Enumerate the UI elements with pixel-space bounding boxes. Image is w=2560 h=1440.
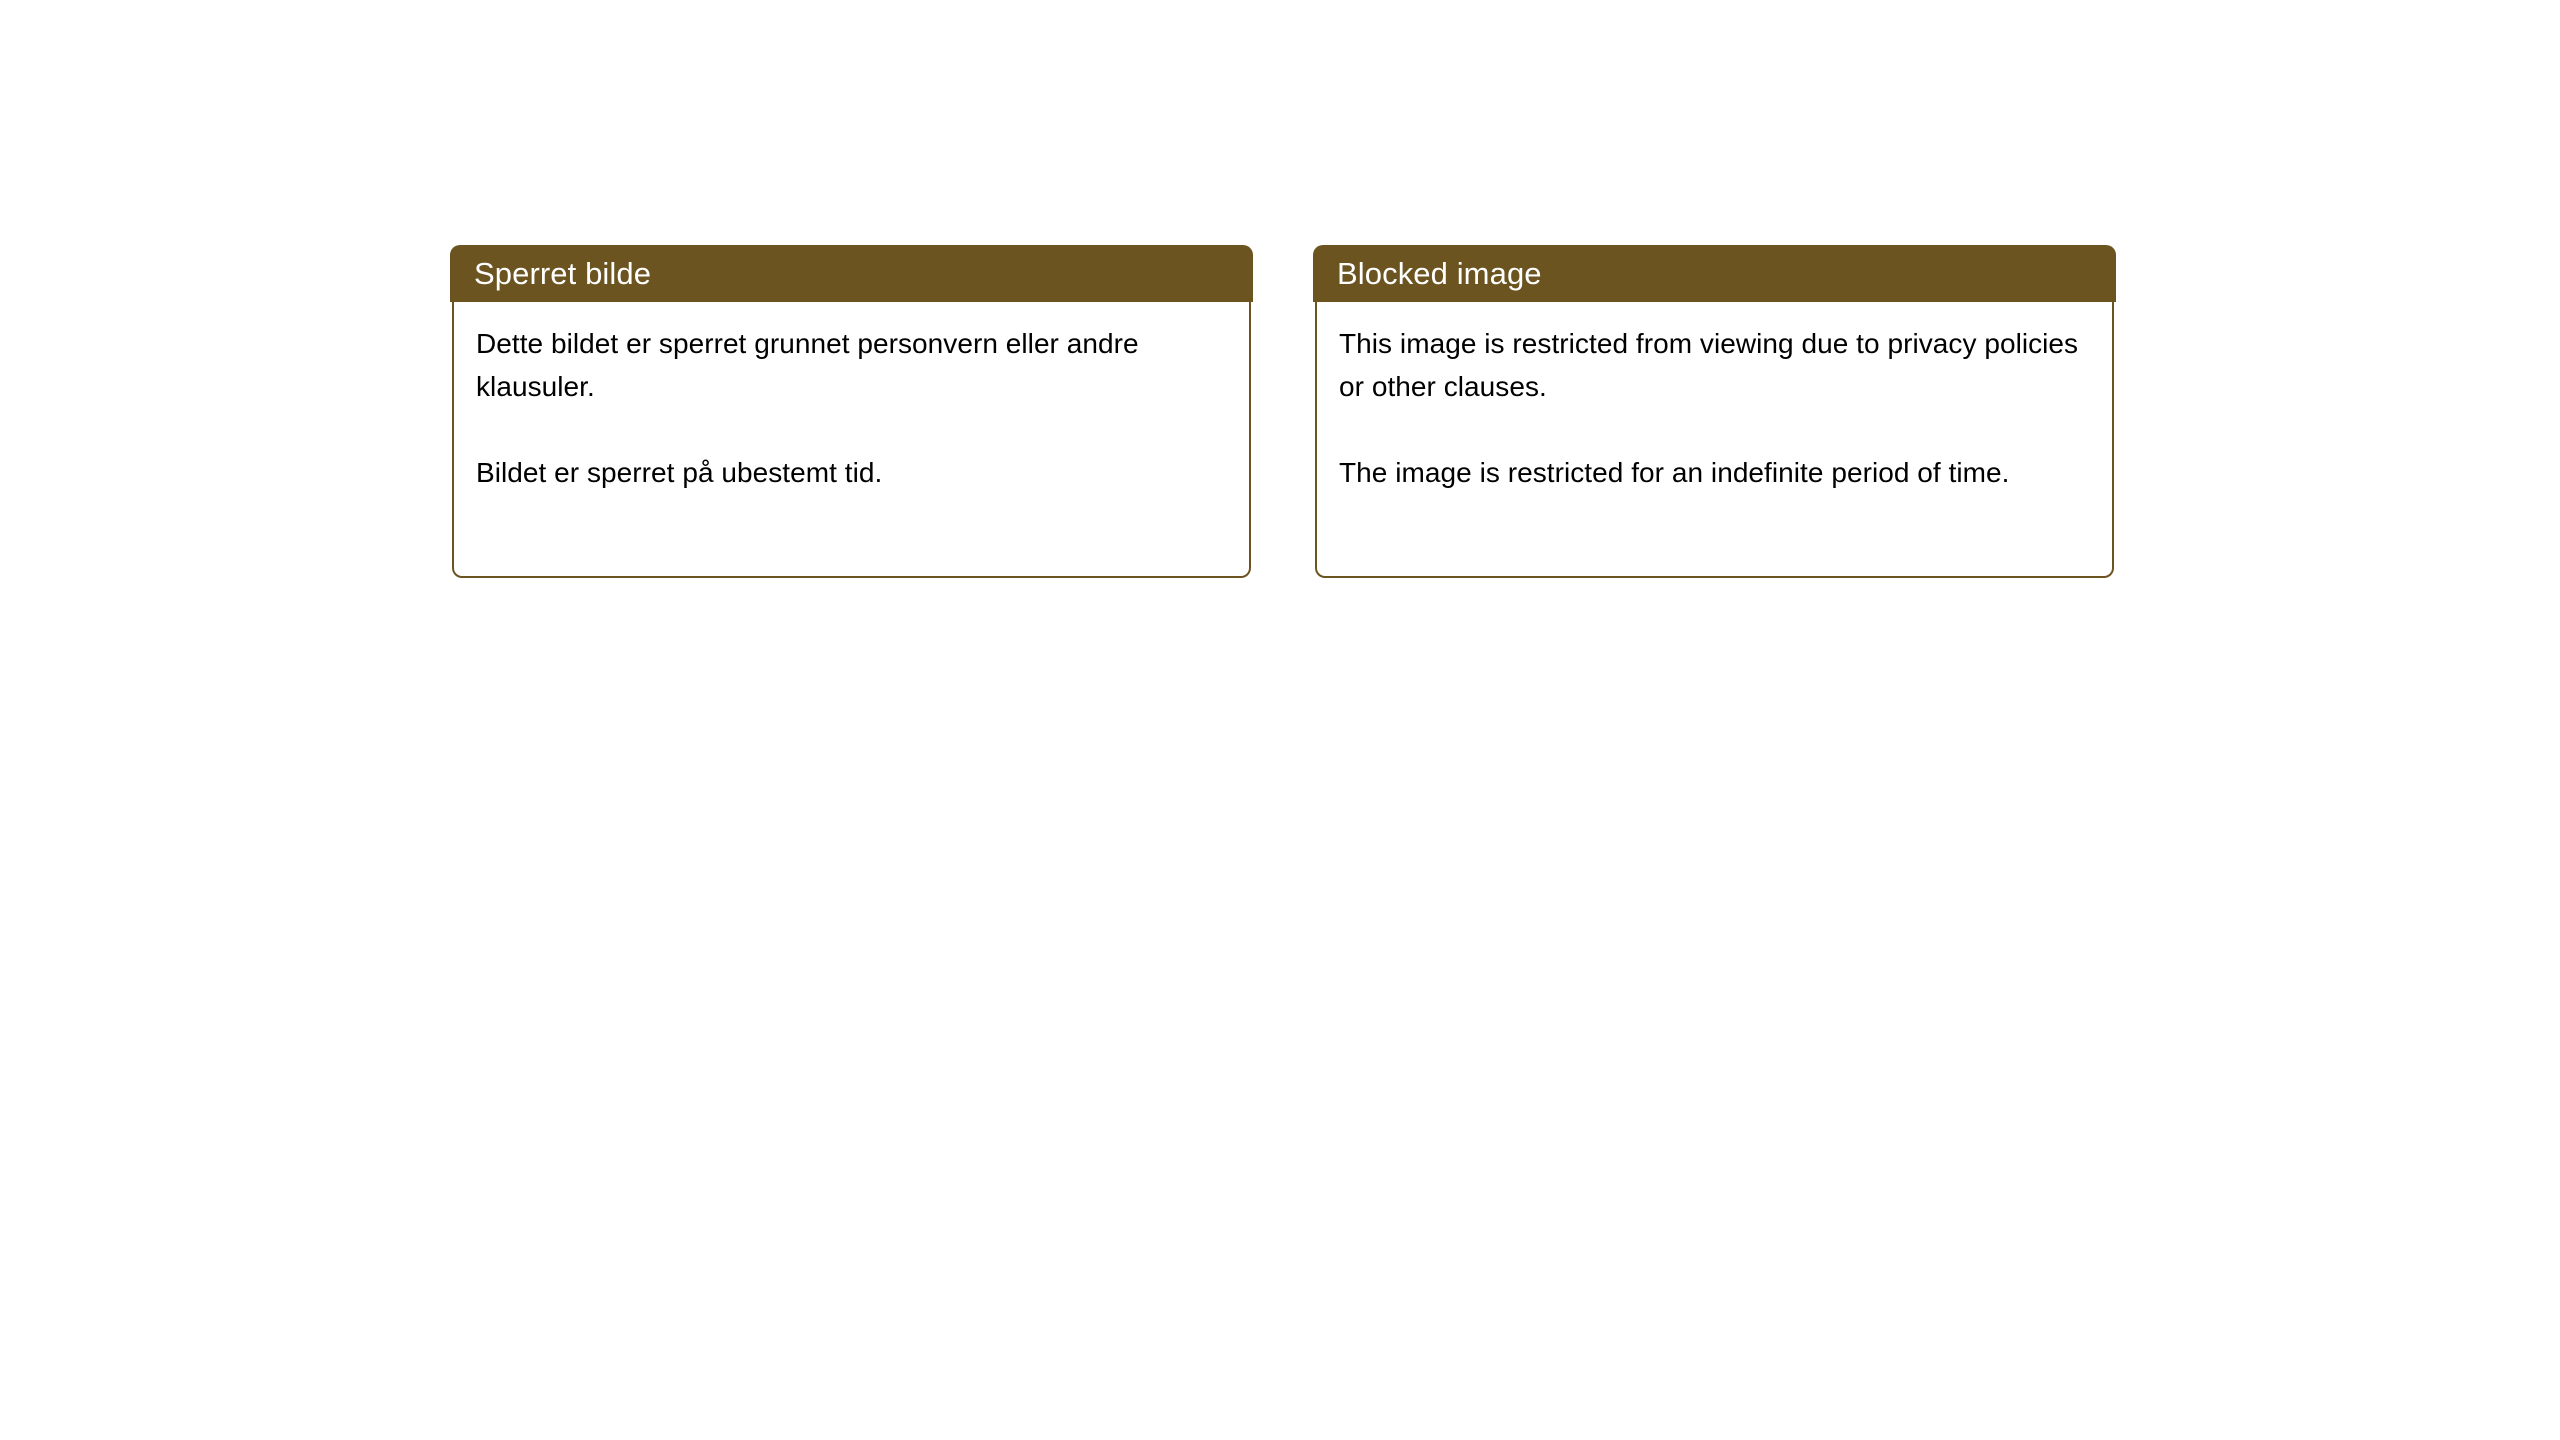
panel-title-english: Blocked image [1337,258,1542,289]
panel-paragraph-reason-english: This image is restricted from viewing du… [1339,322,2088,408]
panel-paragraph-duration-english: The image is restricted for an indefinit… [1339,451,2088,494]
panel-body-norwegian: Dette bildet er sperret grunnet personve… [452,302,1251,578]
panel-paragraph-reason-norwegian: Dette bildet er sperret grunnet personve… [476,322,1225,408]
blocked-image-notice-container: Sperret bilde Dette bildet er sperret gr… [450,245,2116,578]
panel-paragraph-duration-norwegian: Bildet er sperret på ubestemt tid. [476,451,1225,494]
blocked-image-panel-english: Blocked image This image is restricted f… [1313,245,2116,578]
panel-body-english: This image is restricted from viewing du… [1315,302,2114,578]
blocked-image-panel-norwegian: Sperret bilde Dette bildet er sperret gr… [450,245,1253,578]
panel-header-english: Blocked image [1313,245,2116,302]
panel-header-norwegian: Sperret bilde [450,245,1253,302]
panel-title-norwegian: Sperret bilde [474,258,651,289]
